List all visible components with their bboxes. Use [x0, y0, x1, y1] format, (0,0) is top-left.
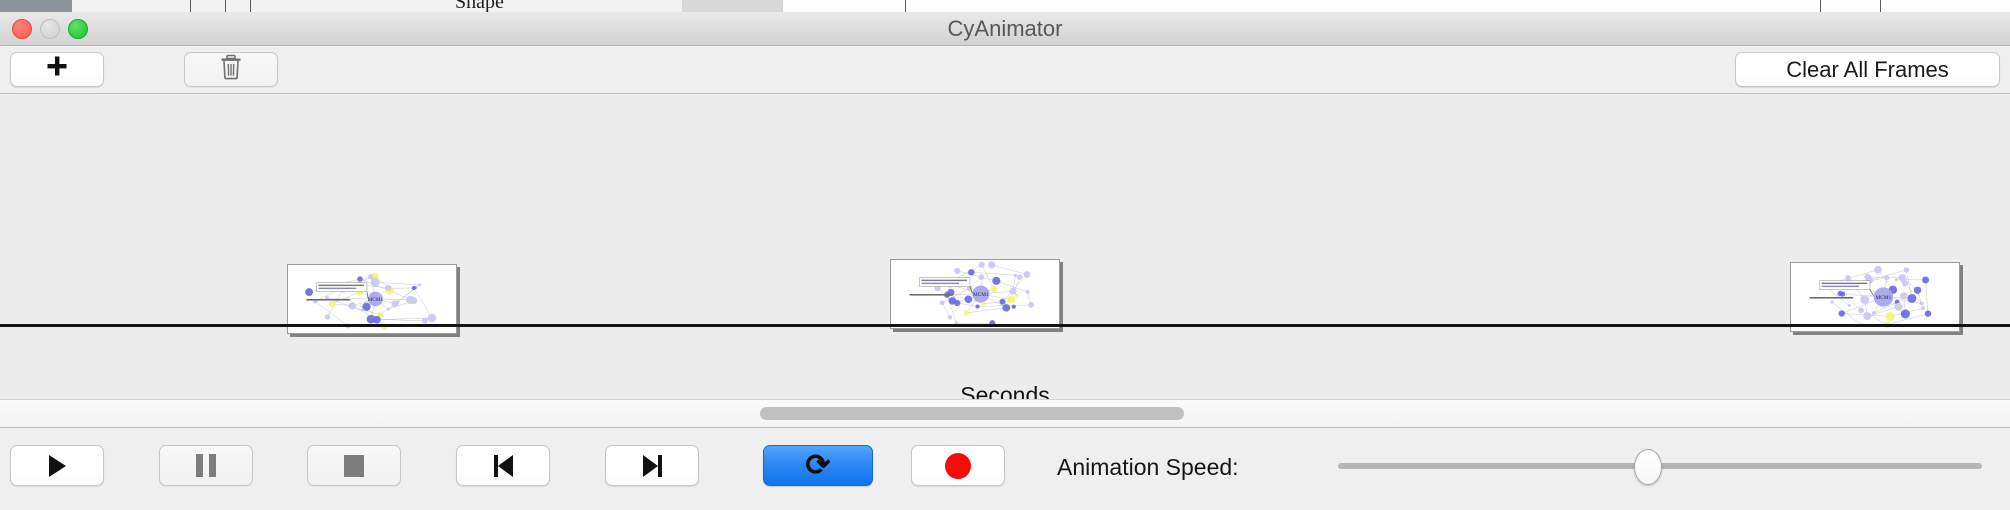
animation-speed-label: Animation Speed: — [1057, 454, 1239, 481]
background-window-segment — [302, 0, 593, 12]
frame-thumbnails: MCM1MCM1MCM1 — [0, 94, 2010, 324]
background-window-segment — [72, 0, 183, 12]
record-icon — [945, 453, 971, 479]
next-frame-button[interactable] — [605, 445, 699, 486]
background-tick — [190, 0, 191, 12]
network-graph-preview: MCM1 — [288, 265, 456, 333]
clear-all-frames-label: Clear All Frames — [1786, 57, 1949, 83]
network-graph-preview: MCM1 — [891, 260, 1059, 328]
frames-toolbar: Clear All Frames — [0, 46, 2010, 94]
prev-frame-button[interactable] — [456, 445, 550, 486]
axis-line — [0, 324, 2010, 327]
skip-to-end-icon — [643, 455, 662, 477]
play-icon — [49, 455, 66, 477]
background-window-segment — [592, 0, 683, 12]
background-tick — [1820, 0, 1821, 12]
svg-text:MCM1: MCM1 — [368, 297, 384, 303]
cyanimator-window: CyAnimator — [0, 12, 2010, 510]
animation-speed-slider[interactable] — [1330, 445, 1990, 486]
skip-to-start-icon — [494, 455, 513, 477]
pause-icon — [196, 454, 216, 477]
background-window-titlebar — [0, 0, 72, 12]
stop-icon — [344, 455, 364, 477]
svg-text:MCM1: MCM1 — [973, 292, 989, 298]
slider-thumb[interactable] — [1634, 449, 1662, 485]
stop-button[interactable] — [307, 445, 401, 486]
axis-title: Seconds — [0, 382, 2010, 399]
network-graph-preview: MCM1 — [1791, 263, 1959, 331]
background-window-segment — [732, 0, 783, 12]
background-tick — [905, 0, 906, 12]
timeline-panel[interactable]: MCM1MCM1MCM1 Seconds — [0, 94, 2010, 399]
background-window-segment — [682, 0, 733, 12]
window-title: CyAnimator — [0, 16, 2010, 42]
scrollbar-thumb[interactable] — [760, 407, 1184, 420]
delete-frame-button[interactable] — [184, 52, 278, 87]
trash-icon — [219, 54, 243, 85]
add-frame-button[interactable] — [10, 52, 104, 87]
background-tick — [225, 0, 226, 12]
loop-icon: ⟳ — [805, 451, 830, 481]
background-window-segment — [182, 0, 303, 12]
background-tick — [250, 0, 251, 12]
record-button[interactable] — [911, 445, 1005, 486]
frame-thumbnail[interactable]: MCM1 — [1790, 262, 1960, 332]
background-tick — [1880, 0, 1881, 12]
plus-icon — [45, 54, 69, 85]
timeline-scrollbar[interactable] — [0, 399, 2010, 428]
frame-thumbnail[interactable]: MCM1 — [890, 259, 1060, 329]
pause-button[interactable] — [159, 445, 253, 486]
loop-button[interactable]: ⟳ — [763, 445, 873, 486]
clear-all-frames-button[interactable]: Clear All Frames — [1735, 52, 2000, 87]
playback-toolbar: ⟳ Animation Speed: — [0, 428, 2010, 510]
svg-text:MCM1: MCM1 — [1876, 295, 1892, 301]
title-bar: CyAnimator — [0, 12, 2010, 46]
timeline-axis: Seconds — [0, 324, 2010, 399]
play-button[interactable] — [10, 445, 104, 486]
